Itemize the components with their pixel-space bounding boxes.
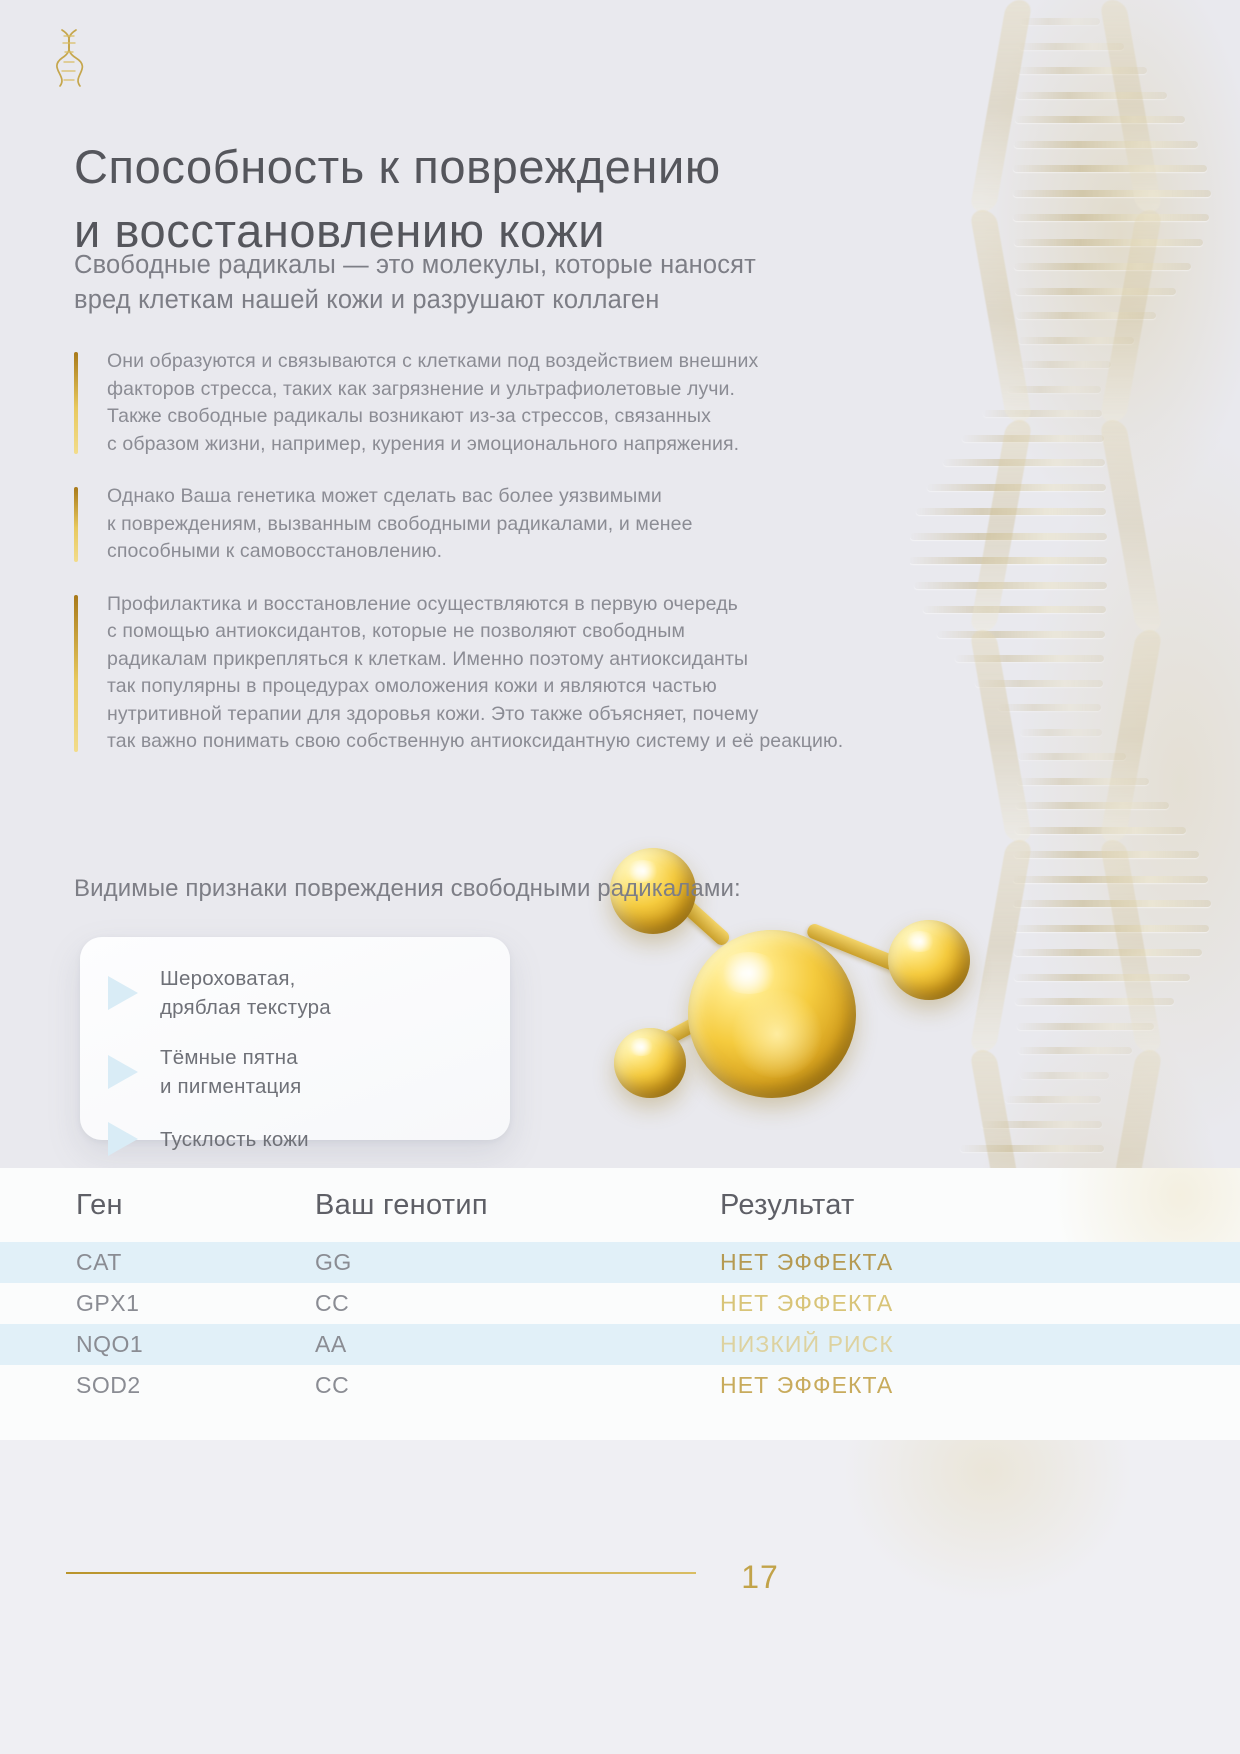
visible-signs-list: Шероховатая, дряблая текстура Тёмные пят… (108, 964, 496, 1156)
list-item: Шероховатая, дряблая текстура (108, 964, 496, 1022)
cell-gene: GPX1 (0, 1290, 315, 1317)
cell-result: НЕТ ЭФФЕКТА (720, 1290, 1240, 1317)
list-item-label: Тусклость кожи (160, 1125, 309, 1154)
cell-gene: CAT (0, 1249, 315, 1276)
cell-result: НИЗКИЙ РИСК (720, 1331, 1240, 1358)
info-paragraph-text: Однако Ваша генетика может сделать вас б… (107, 483, 954, 566)
info-paragraph: Они образуются и связываются с клетками … (74, 348, 954, 458)
info-paragraph: Однако Ваша генетика может сделать вас б… (74, 483, 954, 566)
visible-signs-title: Видимые признаки повреждения свободными … (74, 873, 974, 905)
cell-genotype: AA (315, 1331, 720, 1358)
table-row: GPX1 CC НЕТ ЭФФЕКТА (0, 1283, 1240, 1324)
cell-genotype: GG (315, 1249, 720, 1276)
page-title: Способность к повреждению и восстановлен… (74, 135, 954, 263)
page-title-line-1: Способность к повреждению (74, 140, 721, 193)
info-paragraph-text: Профилактика и восстановление осуществля… (107, 591, 954, 756)
info-paragraph-text: Они образуются и связываются с клетками … (107, 348, 954, 458)
gold-accent-bar (74, 595, 78, 752)
page-footer: 17 (0, 1440, 1240, 1754)
list-item: Тёмные пятна и пигментация (108, 1043, 496, 1101)
report-page: Способность к повреждению и восстановлен… (0, 0, 1240, 1754)
info-paragraph-list: Они образуются и связываются с клетками … (74, 348, 954, 756)
triangle-bullet-icon (108, 1122, 138, 1156)
triangle-bullet-icon (108, 976, 138, 1010)
visible-signs-card: Шероховатая, дряблая текстура Тёмные пят… (80, 937, 510, 1140)
table-row: CAT GG НЕТ ЭФФЕКТА (0, 1242, 1240, 1283)
page-number: 17 (720, 1559, 800, 1596)
lede-paragraph: Свободные радикалы — это молекулы, котор… (74, 248, 954, 318)
table-row: SOD2 CC НЕТ ЭФФЕКТА (0, 1365, 1240, 1406)
list-item: Тусклость кожи (108, 1122, 496, 1156)
table-header-genotype: Ваш генотип (315, 1189, 720, 1222)
list-item-label: Тёмные пятна и пигментация (160, 1043, 301, 1101)
info-paragraph: Профилактика и восстановление осуществля… (74, 591, 954, 756)
triangle-bullet-icon (108, 1055, 138, 1089)
gold-accent-bar (74, 352, 78, 454)
dna-helix-logo-icon (46, 26, 92, 90)
gold-accent-bar (74, 487, 78, 562)
cell-gene: NQO1 (0, 1331, 315, 1358)
cell-genotype: CC (315, 1290, 720, 1317)
table-row: NQO1 AA НИЗКИЙ РИСК (0, 1324, 1240, 1365)
cell-result: НЕТ ЭФФЕКТА (720, 1372, 1240, 1399)
footer-rule (66, 1572, 696, 1574)
table-header-gene: Ген (0, 1189, 315, 1222)
results-table: Ген Ваш генотип Результат CAT GG НЕТ ЭФФ… (0, 1168, 1240, 1406)
table-header-row: Ген Ваш генотип Результат (0, 1168, 1240, 1242)
cell-gene: SOD2 (0, 1372, 315, 1399)
cell-genotype: CC (315, 1372, 720, 1399)
list-item-label: Шероховатая, дряблая текстура (160, 964, 331, 1022)
table-header-result: Результат (720, 1189, 1240, 1222)
cell-result: НЕТ ЭФФЕКТА (720, 1249, 1240, 1276)
